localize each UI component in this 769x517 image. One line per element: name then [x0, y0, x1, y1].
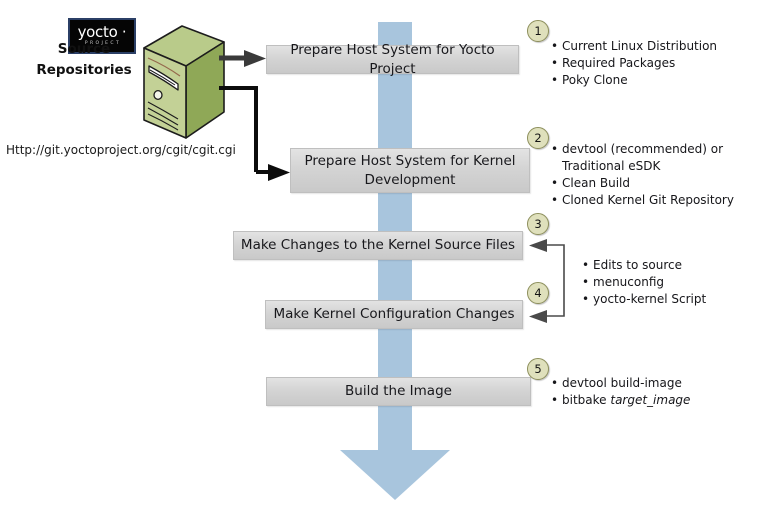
step-1-bullet-list: Current Linux Distribution Required Pack… [551, 38, 717, 89]
list-item: Clean Build [551, 175, 734, 192]
flow-box-4-label: Make Kernel Configuration Changes [273, 305, 514, 324]
list-item: Current Linux Distribution [551, 38, 717, 55]
flow-box-2-label-line1: Prepare Host System for Kernel [304, 153, 515, 169]
step-badge-1: 1 [527, 20, 549, 42]
connector-bracket-steps-3-4 [529, 239, 564, 323]
flow-box-make-kernel-source-changes[interactable]: Make Changes to the Kernel Source Files [233, 231, 523, 260]
step-badge-4: 4 [527, 282, 549, 304]
list-item: yocto-kernel Script [582, 291, 706, 308]
source-repository-url: Http://git.yoctoproject.org/cgit/cgit.cg… [6, 143, 236, 157]
flow-box-make-kernel-config-changes[interactable]: Make Kernel Configuration Changes [265, 300, 523, 329]
steps-3-4-bullet-list: Edits to source menuconfig yocto-kernel … [582, 257, 706, 308]
list-item: devtool (recommended) or Traditional eSD… [551, 141, 734, 175]
list-item-text: devtool (recommended) or [562, 142, 723, 156]
flow-box-3-label: Make Changes to the Kernel Source Files [241, 236, 515, 255]
step-badge-3-number: 3 [534, 217, 541, 231]
step-badge-2-number: 2 [534, 131, 541, 145]
step-badge-1-number: 1 [534, 24, 541, 38]
list-item: Edits to source [582, 257, 706, 274]
list-item-italic-token: target_image [610, 393, 690, 407]
flow-box-2-label: Prepare Host System for Kernel Developme… [304, 152, 515, 190]
list-item: Cloned Kernel Git Repository [551, 192, 734, 209]
step-5-bullet-list: devtool build-image bitbake target_image [551, 375, 690, 409]
flow-box-prepare-host-yocto[interactable]: Prepare Host System for Yocto Project [266, 45, 519, 74]
source-repositories-label-line2: Repositories [28, 60, 140, 81]
flow-box-5-label: Build the Image [345, 382, 452, 401]
source-repositories-label-line1: Source [28, 39, 140, 60]
server-tower-icon [130, 24, 230, 142]
flow-arrowhead-down-icon [340, 450, 450, 500]
source-repositories-label: Source Repositories [28, 39, 140, 81]
kernel-development-flow-diagram: yocto · PROJECT Source Repositories Http… [0, 0, 769, 517]
list-item: Poky Clone [551, 72, 717, 89]
list-item: devtool build-image [551, 375, 690, 392]
step-badge-4-number: 4 [534, 286, 541, 300]
list-item: Required Packages [551, 55, 717, 72]
step-badge-3: 3 [527, 213, 549, 235]
step-badge-5-number: 5 [534, 362, 541, 376]
list-item: menuconfig [582, 274, 706, 291]
list-item: bitbake target_image [551, 392, 690, 409]
flow-box-build-the-image[interactable]: Build the Image [266, 377, 531, 406]
flow-box-2-label-line2: Development [365, 172, 456, 188]
list-item-continuation: Traditional eSDK [562, 158, 734, 175]
step-2-bullet-list: devtool (recommended) or Traditional eSD… [551, 141, 734, 209]
step-badge-2: 2 [527, 127, 549, 149]
list-item-text: bitbake [562, 393, 610, 407]
step-badge-5: 5 [527, 358, 549, 380]
logo-main-text: yocto · [78, 25, 127, 40]
flow-box-1-label: Prepare Host System for Yocto Project [267, 41, 518, 79]
flow-box-prepare-host-kernel[interactable]: Prepare Host System for Kernel Developme… [290, 148, 530, 193]
